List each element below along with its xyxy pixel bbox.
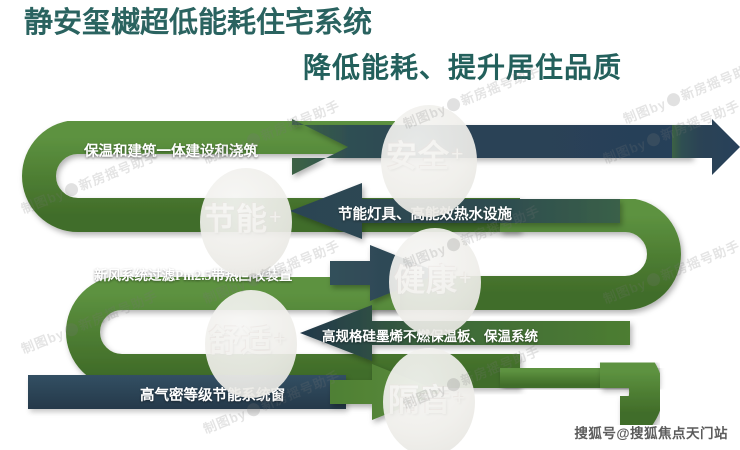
page-subtitle: 降低能耗、提升居住品质 xyxy=(303,52,622,86)
row-comfort-keyword-text: 舒适 xyxy=(209,324,273,359)
row-soundproof-keyword-plus: + xyxy=(453,385,467,410)
row-health-description: 新风系统过滤Pm2.5带热回收装置 xyxy=(94,264,292,284)
slide-canvas: 静安玺樾超低能耗住宅系统 降低能耗、提升居住品质 xyxy=(0,0,740,450)
row-safety-keyword-text: 安全 xyxy=(386,139,450,174)
row-safety-keyword-plus: + xyxy=(451,141,465,166)
footer-watermark: 搜狐号@搜狐焦点天门站 xyxy=(574,422,728,442)
row-energy-keyword: 节能+ xyxy=(204,194,283,239)
row-comfort-keyword-plus: + xyxy=(274,326,288,351)
row-health-keyword-plus: + xyxy=(459,265,473,290)
row-soundproof-description: 高气密等级节能系统窗 xyxy=(140,384,285,405)
row-comfort-description: 高规格硅墨烯不燃保温板、保温系统 xyxy=(322,325,538,345)
row-comfort-keyword: 舒适+ xyxy=(209,316,288,361)
row-soundproof-keyword: 隔音+ xyxy=(388,375,467,420)
row-safety-arrow xyxy=(292,118,740,174)
row-energy-keyword-plus: + xyxy=(269,204,283,229)
row-safety-description: 保温和建筑一体建设和浇筑 xyxy=(84,140,258,161)
row-energy-keyword-text: 节能 xyxy=(204,202,268,237)
page-title: 静安玺樾超低能耗住宅系统 xyxy=(24,6,372,40)
row-health-keyword-text: 健康 xyxy=(394,263,458,298)
row-safety-keyword: 安全+ xyxy=(386,131,465,176)
row-health-keyword: 健康+ xyxy=(394,255,473,300)
row-soundproof-keyword-text: 隔音 xyxy=(388,383,452,418)
row-energy-description: 节能灯具、高能效热水设施 xyxy=(338,203,512,224)
